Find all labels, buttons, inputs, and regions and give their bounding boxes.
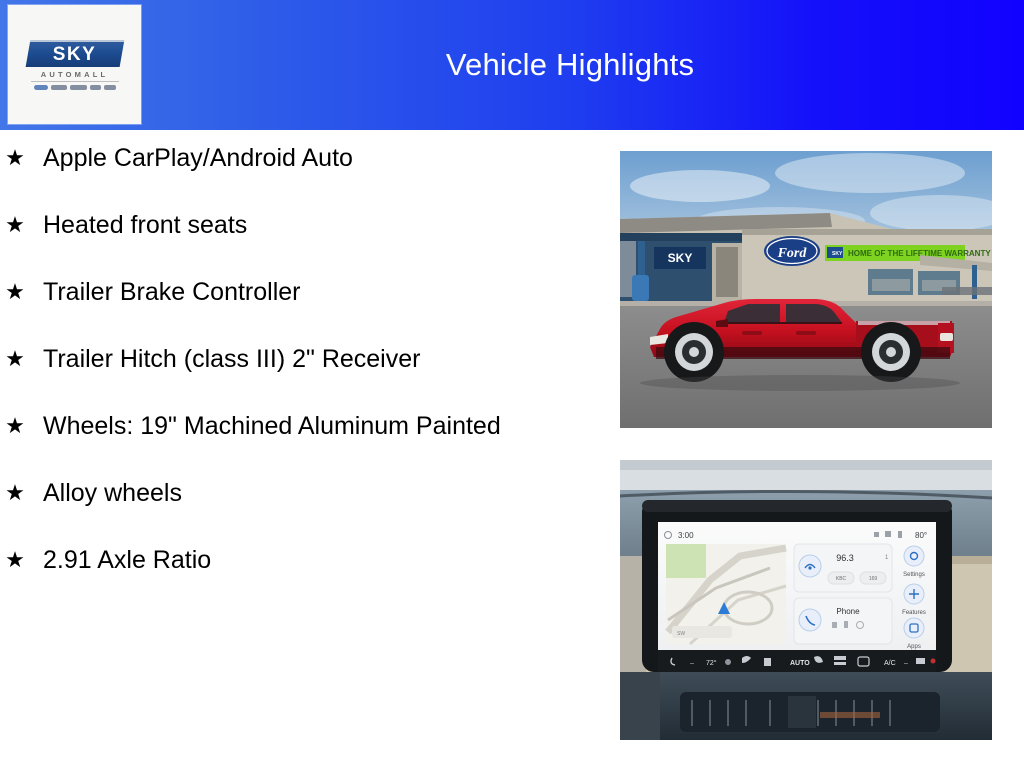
logo-inner: SKY AUTOMALL: [28, 40, 122, 90]
svg-text:SW: SW: [677, 631, 685, 637]
star-bullet-icon: ★: [0, 544, 30, 575]
feature-label: Trailer Hitch (class III) 2" Receiver: [30, 343, 420, 376]
feature-label: Apple CarPlay/Android Auto: [30, 142, 353, 175]
svg-text:AUTO: AUTO: [790, 660, 810, 667]
brand-lincoln-icon: [51, 85, 67, 90]
svg-text:–: –: [904, 660, 908, 667]
sky-logo-text: SKY: [53, 43, 97, 65]
dealer-logo[interactable]: SKY AUTOMALL: [8, 5, 141, 124]
svg-text:Settings: Settings: [903, 572, 925, 578]
svg-text:80°: 80°: [915, 531, 927, 540]
vehicle-interior-photo[interactable]: 3:00 80° SW 96.3 1 KBC 169 Phone: [620, 460, 992, 740]
svg-text:Ford: Ford: [777, 246, 808, 261]
vehicle-exterior-photo[interactable]: SKY Ford SKY HOME OF THE LIFETIME WARRAN…: [620, 151, 992, 428]
brand-ford-icon: [34, 85, 48, 90]
svg-text:–: –: [690, 660, 694, 667]
automall-subtitle: AUTOMALL: [31, 70, 119, 82]
star-bullet-icon: ★: [0, 343, 30, 374]
svg-text:Features: Features: [902, 610, 926, 616]
star-bullet-icon: ★: [0, 276, 30, 307]
svg-text:Apps: Apps: [907, 644, 921, 650]
feature-label: Alloy wheels: [30, 477, 182, 510]
star-bullet-icon: ★: [0, 142, 30, 173]
feature-label: 2.91 Axle Ratio: [30, 544, 211, 577]
svg-text:3:00: 3:00: [678, 531, 694, 540]
svg-text:96.3: 96.3: [836, 553, 854, 563]
sky-logo-badge: SKY: [25, 40, 124, 67]
svg-text:Phone: Phone: [836, 607, 860, 616]
page-header: Vehicle Highlights: [0, 0, 1024, 130]
star-bullet-icon: ★: [0, 477, 30, 508]
feature-label: Trailer Brake Controller: [30, 276, 300, 309]
svg-text:SKY: SKY: [668, 251, 693, 265]
page-title: Vehicle Highlights: [160, 0, 980, 130]
star-bullet-icon: ★: [0, 209, 30, 240]
star-bullet-icon: ★: [0, 410, 30, 441]
svg-text:169: 169: [869, 576, 878, 582]
brand-jeep-icon: [90, 85, 101, 90]
svg-text:SKY: SKY: [832, 251, 843, 257]
list-item: ★ Wheels: 19" Machined Aluminum Painted: [0, 410, 600, 443]
list-item: ★ Trailer Brake Controller: [0, 276, 600, 309]
brand-chrysler-icon: [70, 85, 87, 90]
list-item: ★ Heated front seats: [0, 209, 600, 242]
feature-label: Wheels: 19" Machined Aluminum Painted: [30, 410, 501, 443]
list-item: ★ Alloy wheels: [0, 477, 600, 510]
list-item: ★ Trailer Hitch (class III) 2" Receiver: [0, 343, 600, 376]
svg-text:A/C: A/C: [884, 660, 896, 667]
brand-ram-icon: [104, 85, 116, 90]
svg-text:KBC: KBC: [836, 576, 847, 582]
feature-label: Heated front seats: [30, 209, 247, 242]
svg-text:72°: 72°: [706, 659, 717, 667]
list-item: ★ 2.91 Axle Ratio: [0, 544, 600, 577]
brand-strip: [31, 85, 119, 90]
vehicle-highlights-list: ★ Apple CarPlay/Android Auto ★ Heated fr…: [0, 142, 600, 611]
svg-text:HOME OF THE LIFETIME WARRANTY: HOME OF THE LIFETIME WARRANTY: [848, 249, 991, 258]
list-item: ★ Apple CarPlay/Android Auto: [0, 142, 600, 175]
